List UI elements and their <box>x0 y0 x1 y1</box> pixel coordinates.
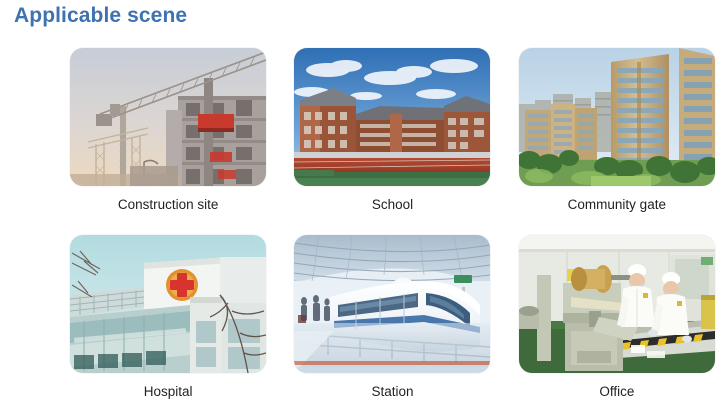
page-title: Applicable scene <box>14 4 187 28</box>
scene-row-1: Construction site <box>0 48 722 213</box>
scene-card-construction-site[interactable]: Construction site <box>63 48 273 213</box>
scene-grid: Construction site <box>0 48 722 400</box>
scene-card-community-gate[interactable]: Community gate <box>512 48 722 213</box>
scene-image-construction-site[interactable] <box>70 48 266 186</box>
scene-caption-station: Station <box>371 384 413 400</box>
scene-caption-hospital: Hospital <box>144 384 193 400</box>
scene-caption-office: Office <box>599 384 634 400</box>
scene-caption-construction-site: Construction site <box>118 197 219 213</box>
scene-caption-school: School <box>372 197 413 213</box>
scene-card-station[interactable]: Station <box>287 235 497 400</box>
scene-image-hospital[interactable] <box>70 235 266 373</box>
scene-image-office[interactable] <box>519 235 715 373</box>
scene-card-hospital[interactable]: Hospital <box>63 235 273 400</box>
scene-image-community-gate[interactable] <box>519 48 715 186</box>
scene-caption-community-gate: Community gate <box>568 197 666 213</box>
scene-image-school[interactable] <box>294 48 490 186</box>
scene-card-school[interactable]: School <box>287 48 497 213</box>
scene-row-2: Hospital <box>0 235 722 400</box>
scene-card-office[interactable]: Office <box>512 235 722 400</box>
scene-image-station[interactable] <box>294 235 490 373</box>
